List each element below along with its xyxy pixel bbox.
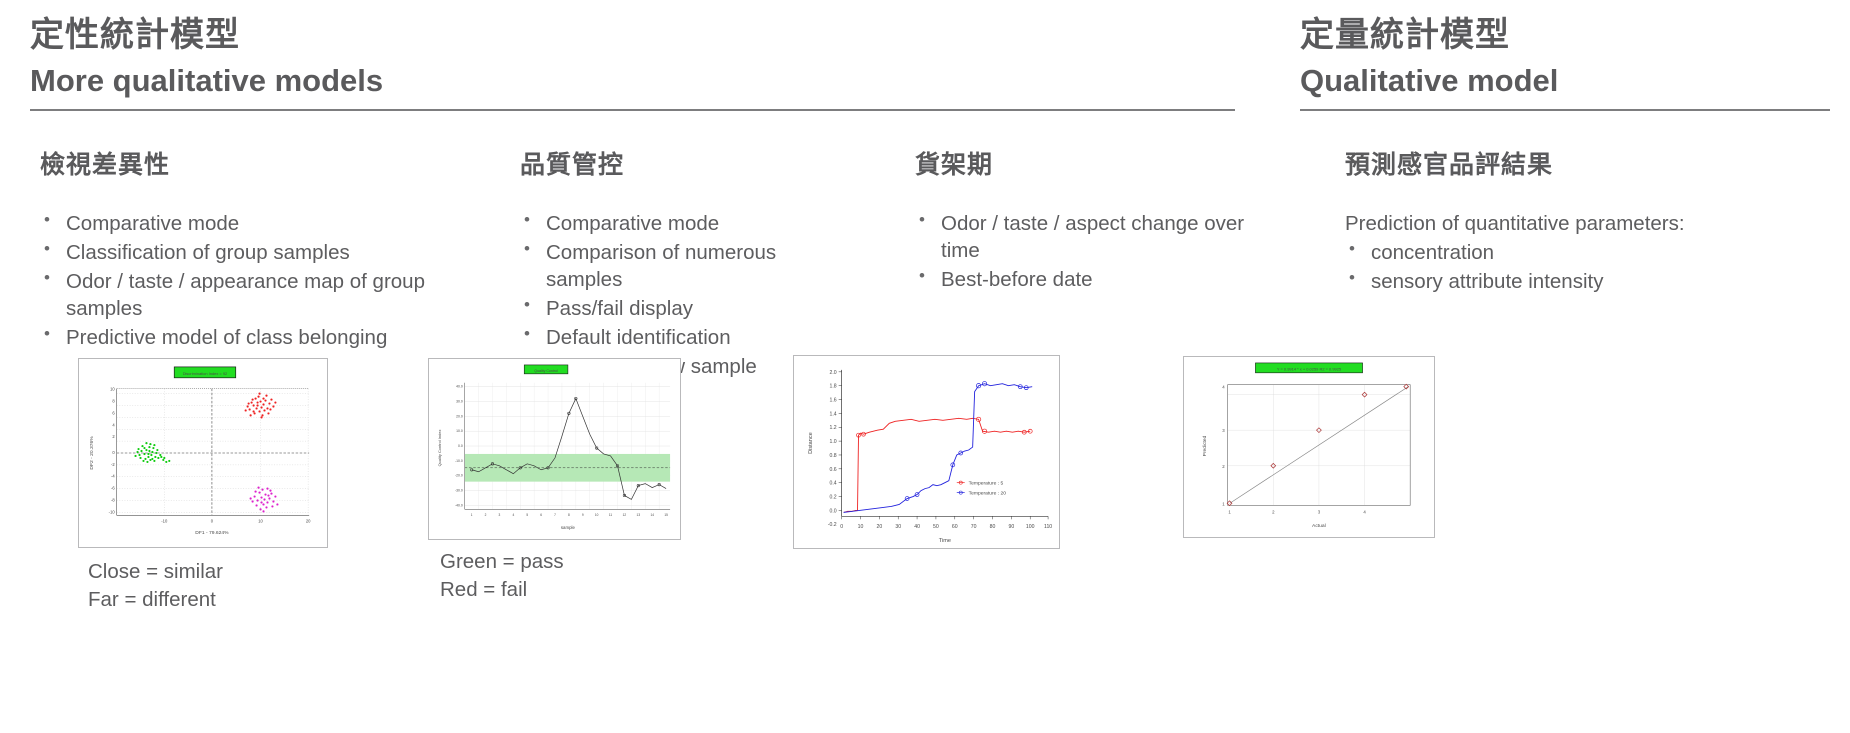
svg-text:-10: -10 — [161, 518, 168, 523]
svg-text:-20.0: -20.0 — [455, 474, 463, 478]
svg-text:70: 70 — [971, 524, 977, 530]
shelf-legend-item-2: Temperature : 20 — [969, 491, 1007, 497]
shelf-legend-item-1: Temperature : 5 — [969, 481, 1004, 487]
quant-svg: Y = 0.9914 * x + 0.0259 R2 = 0.9925 4 3 — [1184, 357, 1434, 537]
figure-quantitative-prediction: Y = 0.9914 * x + 0.0259 R2 = 0.9925 4 3 — [1183, 356, 1435, 538]
svg-text:-30.0: -30.0 — [455, 489, 463, 493]
list-item: Comparison of numerous samples — [520, 239, 820, 293]
section-header-right: 定量統計模型 Qualitative model — [1300, 14, 1830, 111]
svg-text:1.0: 1.0 — [830, 439, 837, 445]
column-3-title: 貨架期 — [915, 150, 1245, 180]
svg-text:-10.0: -10.0 — [455, 459, 463, 463]
dfa-ylabel: DF2 - 20.376% — [89, 436, 95, 470]
column-1-bullets: Comparative mode Classification of group… — [40, 210, 430, 351]
qc-chart-svg: Quality Control — [429, 359, 680, 539]
list-item: Default identification — [520, 324, 820, 351]
shelf-life-svg: 2.01.81.6 1.41.21.0 0.80.60.4 0.20.0-0.2… — [794, 356, 1059, 548]
svg-text:10: 10 — [258, 518, 263, 523]
list-item: Comparative mode — [520, 210, 820, 237]
section-left-title-cn: 定性統計模型 — [30, 14, 1245, 57]
dfa-scatter-svg: Discrimination Index = 92 10 8 6 — [79, 359, 327, 547]
shelf-xlabel: Time — [939, 538, 951, 544]
svg-text:-40.0: -40.0 — [455, 503, 463, 507]
figure-shelf-life: 2.01.81.6 1.41.21.0 0.80.60.4 0.20.0-0.2… — [793, 355, 1060, 549]
column-2-bullets: Comparative mode Comparison of numerous … — [520, 210, 820, 380]
svg-text:50: 50 — [933, 524, 939, 530]
list-item: Classification of group samples — [40, 239, 430, 266]
svg-text:12: 12 — [623, 513, 627, 517]
svg-text:90: 90 — [1008, 524, 1014, 530]
section-left-title-en: More qualitative models — [30, 61, 1245, 101]
svg-text:0.4: 0.4 — [830, 481, 837, 487]
dfa-title-banner: Discrimination Index = 92 — [183, 371, 228, 376]
list-item: Comparative mode — [40, 210, 430, 237]
svg-text:1.2: 1.2 — [830, 425, 837, 431]
svg-text:0: 0 — [840, 524, 843, 530]
svg-text:6: 6 — [540, 513, 542, 517]
svg-text:13: 13 — [637, 513, 641, 517]
quant-xlabel: Actual — [1312, 523, 1326, 529]
list-item: Best-before date — [915, 266, 1245, 293]
svg-text:2.0: 2.0 — [830, 370, 837, 376]
quant-ylabel: Predicted — [1202, 435, 1208, 456]
svg-text:40.0: 40.0 — [456, 385, 463, 389]
svg-text:1: 1 — [471, 513, 473, 517]
svg-text:110: 110 — [1044, 524, 1052, 530]
column-4-title: 預測感官品評結果 — [1345, 150, 1745, 180]
list-item: Predictive model of class belonging — [40, 324, 430, 351]
figure-1-caption: Close = similar Far = different — [88, 558, 223, 615]
svg-text:1.8: 1.8 — [830, 384, 837, 390]
svg-text:1.4: 1.4 — [830, 411, 837, 417]
svg-text:2: 2 — [485, 513, 487, 517]
figure-2-caption: Green = pass Red = fail — [440, 548, 564, 605]
svg-text:30: 30 — [895, 524, 901, 530]
svg-text:10: 10 — [110, 387, 115, 392]
dfa-xlabel: DF1 - 79.624% — [195, 530, 229, 536]
list-item: Odor / taste / appearance map of group s… — [40, 268, 430, 322]
svg-text:0.0: 0.0 — [830, 508, 837, 514]
svg-text:10.0: 10.0 — [456, 429, 463, 433]
list-item: Pass/fail display — [520, 295, 820, 322]
section-right-title-cn: 定量統計模型 — [1300, 14, 1830, 57]
qc-xlabel: sample — [561, 525, 576, 530]
svg-text:100: 100 — [1026, 524, 1035, 530]
column-1-title: 檢視差異性 — [40, 150, 430, 180]
list-item: concentration — [1345, 239, 1745, 266]
column-3-bullets: Odor / taste / aspect change over time B… — [915, 210, 1245, 293]
shelf-ylabel: Distance — [808, 432, 814, 454]
svg-text:10: 10 — [595, 513, 599, 517]
svg-text:11: 11 — [609, 513, 613, 517]
svg-text:20: 20 — [876, 524, 882, 530]
svg-text:0.2: 0.2 — [830, 495, 837, 501]
svg-text:14: 14 — [650, 513, 654, 517]
column-quality-control: 品質管控 Comparative mode Comparison of nume… — [520, 150, 820, 382]
svg-text:0.6: 0.6 — [830, 467, 837, 473]
svg-text:10: 10 — [858, 524, 864, 530]
svg-text:20.0: 20.0 — [456, 414, 463, 418]
svg-text:8: 8 — [568, 513, 570, 517]
svg-text:-10: -10 — [109, 509, 116, 514]
section-left-divider — [30, 109, 1235, 111]
svg-text:9: 9 — [582, 513, 584, 517]
svg-text:0.8: 0.8 — [830, 453, 837, 459]
list-item: Odor / taste / aspect change over time — [915, 210, 1245, 264]
column-2-title: 品質管控 — [520, 150, 820, 180]
svg-text:0.0: 0.0 — [458, 444, 463, 448]
svg-text:60: 60 — [952, 524, 958, 530]
column-4-bullets: concentration sensory attribute intensit… — [1345, 239, 1745, 295]
figure-quality-control: Quality Control — [428, 358, 681, 540]
quant-title-banner: Y = 0.9914 * x + 0.0259 R2 = 0.9925 — [1277, 366, 1342, 371]
column-4-lead: Prediction of quantitative parameters: — [1345, 210, 1745, 237]
qc-title-banner: Quality Control — [534, 369, 558, 373]
svg-text:30.0: 30.0 — [456, 400, 463, 404]
svg-text:-0.2: -0.2 — [828, 522, 837, 528]
section-right-divider — [1300, 109, 1830, 111]
svg-text:5: 5 — [526, 513, 528, 517]
svg-text:15: 15 — [664, 513, 668, 517]
qc-ylabel: Quality Control Index — [437, 430, 442, 467]
column-variability: 檢視差異性 Comparative mode Classification of… — [40, 150, 430, 353]
svg-text:7: 7 — [554, 513, 556, 517]
svg-text:4: 4 — [512, 513, 514, 517]
svg-text:3: 3 — [499, 513, 501, 517]
column-sensory-prediction: 預測感官品評結果 Prediction of quantitative para… — [1345, 150, 1745, 297]
svg-text:40: 40 — [914, 524, 920, 530]
section-right-title-en: Qualitative model — [1300, 61, 1830, 101]
svg-text:20: 20 — [306, 518, 311, 523]
list-item: sensory attribute intensity — [1345, 268, 1745, 295]
figure-dfa-scatter: Discrimination Index = 92 10 8 6 — [78, 358, 328, 548]
svg-text:80: 80 — [990, 524, 996, 530]
column-shelf-life: 貨架期 Odor / taste / aspect change over ti… — [915, 150, 1245, 295]
svg-text:1.6: 1.6 — [830, 398, 837, 404]
section-header-left: 定性統計模型 More qualitative models — [30, 14, 1245, 111]
